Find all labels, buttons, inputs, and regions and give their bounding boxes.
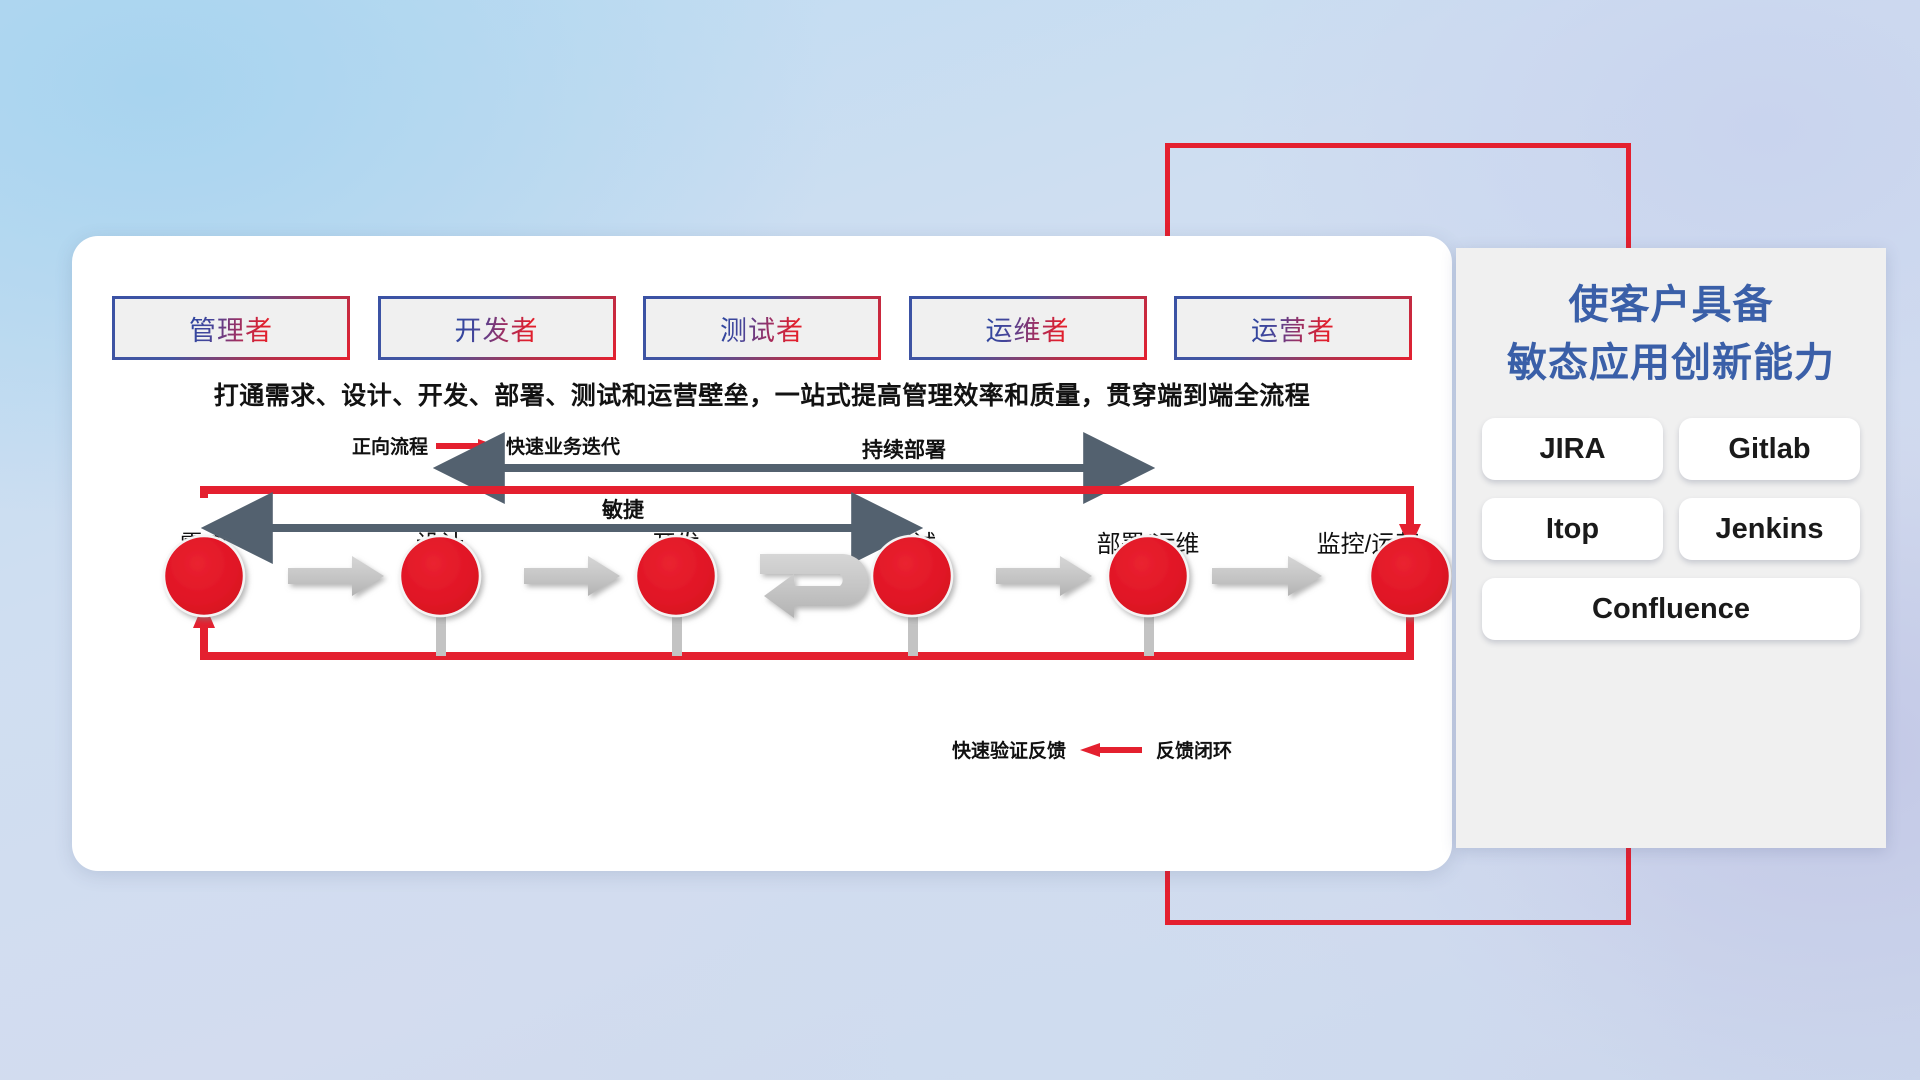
node-label-4: 部署/运维 (1097, 524, 1200, 559)
node-label-3: 测试 (888, 524, 936, 559)
connector-arrow-0 (288, 556, 384, 596)
node-label-2: 开发 (652, 524, 700, 559)
role-box-inner: 开发者 (381, 299, 613, 357)
tool-chip-jira[interactable]: JIRA (1482, 418, 1663, 480)
role-box-2[interactable]: 测试者 (643, 296, 881, 360)
main-diagram-card: 管理者 开发者 测试者 运维者 (72, 236, 1452, 871)
role-box-row: 管理者 开发者 测试者 运维者 (112, 296, 1412, 360)
role-box-border: 运营者 (1174, 296, 1412, 360)
role-box-inner: 管理者 (115, 299, 347, 357)
role-box-4[interactable]: 运营者 (1174, 296, 1412, 360)
span-label-continuous-deployment: 持续部署 (862, 434, 946, 464)
tool-chip-gitlab[interactable]: Gitlab (1679, 418, 1860, 480)
description-text: 打通需求、设计、开发、部署、测试和运营壁垒，一站式提高管理效率和质量，贯穿端到端… (72, 376, 1452, 412)
arrow-left-red-icon (1080, 743, 1142, 756)
tool-chip-itop[interactable]: Itop (1482, 498, 1663, 560)
role-box-inner: 测试者 (646, 299, 878, 357)
feedback-flow-legend: 快速验证反馈 反馈闭环 (952, 736, 1232, 763)
connector-loopback-gray (760, 554, 868, 618)
span-label-agile: 敏捷 (602, 494, 644, 524)
arrow-right-red-icon (436, 439, 498, 452)
feedback-left-label: 快速验证反馈 (952, 736, 1066, 763)
role-box-0[interactable]: 管理者 (112, 296, 350, 360)
feedback-right-label: 反馈闭环 (1156, 736, 1232, 763)
node-label-5: 监控/运营 (1317, 524, 1420, 559)
pipeline-node-circles (164, 536, 1450, 616)
role-box-border: 管理者 (112, 296, 350, 360)
node-stems (430, 582, 1154, 656)
tool-chip-confluence[interactable]: Confluence (1482, 578, 1860, 640)
role-label: 管理者 (189, 309, 273, 348)
role-box-3[interactable]: 运维者 (909, 296, 1147, 360)
role-label: 测试者 (720, 309, 804, 348)
role-box-border: 开发者 (378, 296, 616, 360)
value-proposition-panel: 使客户具备 敏态应用创新能力 JIRA Gitlab Itop Jenkins … (1456, 248, 1886, 848)
connector-arrow-1 (524, 556, 620, 596)
role-label: 运营者 (1251, 309, 1335, 348)
red-loop-top (204, 490, 1421, 548)
node-label-1: 设计 (416, 524, 464, 559)
tool-chip-jenkins[interactable]: Jenkins (1679, 498, 1860, 560)
role-box-inner: 运维者 (912, 299, 1144, 357)
tool-chip-list: JIRA Gitlab Itop Jenkins Confluence (1456, 418, 1886, 640)
forward-flow-legend: 正向流程 快速业务迭代 (352, 432, 620, 459)
node-label-0: 需求 (180, 524, 228, 559)
panel-title-line-2: 敏态应用创新能力 (1456, 334, 1886, 392)
panel-title-line-1: 使客户具备 (1456, 276, 1886, 334)
role-box-1[interactable]: 开发者 (378, 296, 616, 360)
role-label: 运维者 (986, 309, 1070, 348)
panel-title: 使客户具备 敏态应用创新能力 (1456, 276, 1886, 392)
forward-flow-left-label: 正向流程 (352, 432, 428, 459)
red-loop-bottom (193, 596, 1410, 656)
role-box-border: 测试者 (643, 296, 881, 360)
role-label: 开发者 (455, 309, 539, 348)
connector-arrow-4 (1212, 556, 1322, 596)
role-box-border: 运维者 (909, 296, 1147, 360)
connector-arrow-3 (996, 556, 1092, 596)
role-box-inner: 运营者 (1177, 299, 1409, 357)
forward-flow-right-label: 快速业务迭代 (506, 432, 620, 459)
